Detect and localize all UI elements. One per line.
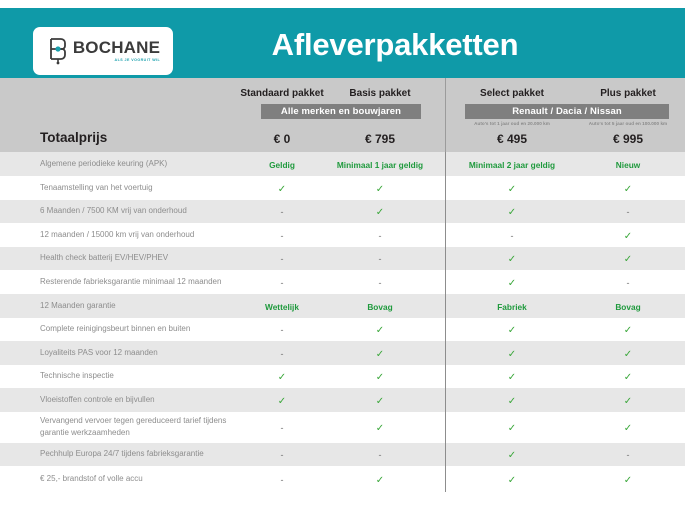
feature-label: Tenaamstelling van het voertuig: [40, 182, 255, 194]
column-group-divider: [445, 318, 446, 342]
table-row: Health check batterij EV/HEV/PHEV--✓✓: [0, 247, 685, 271]
cell-value: ✓: [376, 418, 384, 436]
feature-label: Pechhulp Europa 24/7 tijdens fabrieksgar…: [40, 448, 255, 460]
dash-icon: -: [627, 450, 630, 460]
cell-value: Wettelijk: [265, 297, 299, 315]
cell-value: ✓: [624, 226, 632, 244]
dash-icon: -: [379, 278, 382, 288]
cell-value: ✓: [508, 418, 516, 436]
cell-value: ✓: [624, 344, 632, 362]
cell-value: ✓: [624, 418, 632, 436]
column-group-divider: [445, 341, 446, 365]
cell-value: ✓: [376, 179, 384, 197]
cell-text: Bovag: [367, 302, 392, 312]
column-group-divider: [445, 294, 446, 318]
page-header-banner: BOCHANE ALS JE VOORUIT WIL Afleverpakket…: [0, 8, 685, 78]
column-group-divider: [445, 270, 446, 294]
check-icon: ✓: [624, 475, 632, 486]
cell-value: ✓: [508, 367, 516, 385]
check-icon: ✓: [376, 372, 384, 383]
check-icon: ✓: [376, 207, 384, 218]
price-plus: € 995: [598, 132, 658, 146]
table-row: Resterende fabrieksgarantie minimaal 12 …: [0, 270, 685, 294]
cell-value: ✓: [376, 391, 384, 409]
check-icon: ✓: [508, 475, 516, 486]
check-icon: ✓: [508, 450, 516, 461]
cell-value: -: [281, 249, 284, 267]
cell-value: -: [627, 202, 630, 220]
table-row: Algemene periodieke keuring (APK)GeldigM…: [0, 152, 685, 176]
cell-value: Geldig: [269, 155, 295, 173]
cell-text: Fabriek: [497, 302, 527, 312]
table-row: 12 maanden / 15000 km vrij van onderhoud…: [0, 223, 685, 247]
cell-value: ✓: [508, 202, 516, 220]
afleverpakketten-comparison-page: BOCHANE ALS JE VOORUIT WIL Afleverpakket…: [0, 0, 685, 514]
check-icon: ✓: [278, 184, 286, 195]
cell-value: -: [281, 320, 284, 338]
cell-text: Bovag: [615, 302, 640, 312]
table-row: Tenaamstelling van het voertuig✓✓✓✓: [0, 176, 685, 200]
check-icon: ✓: [508, 278, 516, 289]
column-group-divider: [445, 412, 446, 443]
cell-value: ✓: [376, 320, 384, 338]
cell-value: ✓: [508, 320, 516, 338]
cell-value: -: [627, 445, 630, 463]
feature-label: Health check batterij EV/HEV/PHEV: [40, 252, 255, 264]
table-row: 6 Maanden / 7500 KM vrij van onderhoud-✓…: [0, 200, 685, 224]
cell-value: ✓: [376, 367, 384, 385]
check-icon: ✓: [376, 325, 384, 336]
cell-value: ✓: [508, 344, 516, 362]
cell-value: ✓: [624, 470, 632, 488]
column-group-divider: [445, 466, 446, 492]
check-icon: ✓: [508, 372, 516, 383]
cell-value: ✓: [278, 391, 286, 409]
column-group-divider-top: [445, 78, 446, 152]
cell-value: ✓: [508, 445, 516, 463]
cell-value: -: [281, 344, 284, 362]
feature-label: 6 Maanden / 7500 KM vrij van onderhoud: [40, 205, 255, 217]
cell-text: Wettelijk: [265, 302, 299, 312]
table-row: Technische inspectie✓✓✓✓: [0, 365, 685, 389]
cell-value: ✓: [508, 470, 516, 488]
package-name-select: Select pakket: [457, 88, 567, 99]
check-icon: ✓: [508, 396, 516, 407]
check-icon: ✓: [376, 475, 384, 486]
cell-value: ✓: [624, 320, 632, 338]
cell-value: -: [511, 226, 514, 244]
dash-icon: -: [511, 231, 514, 241]
cell-value: ✓: [376, 202, 384, 220]
check-icon: ✓: [624, 184, 632, 195]
table-row: € 25,- brandstof of volle accu-✓✓✓: [0, 466, 685, 492]
cell-value: ✓: [508, 179, 516, 197]
package-note-plus: Auto's tot 5 jaar oud en 100.000 km: [572, 121, 684, 126]
package-note-select: Auto's tot 1 jaar oud en 20.000 km: [457, 121, 567, 126]
cell-value: Bovag: [615, 297, 640, 315]
check-icon: ✓: [624, 325, 632, 336]
cell-text: Nieuw: [616, 160, 640, 170]
cell-value: ✓: [624, 367, 632, 385]
page-title: Afleverpakketten: [0, 27, 685, 63]
cell-value: ✓: [508, 273, 516, 291]
table-row: Loyaliteits PAS voor 12 maanden-✓✓✓: [0, 341, 685, 365]
column-group-divider: [445, 443, 446, 467]
table-row: Pechhulp Europa 24/7 tijdens fabrieksgar…: [0, 443, 685, 467]
cell-value: -: [281, 202, 284, 220]
cell-value: Nieuw: [616, 155, 640, 173]
cell-value: ✓: [376, 470, 384, 488]
cell-value: Fabriek: [497, 297, 527, 315]
check-icon: ✓: [278, 372, 286, 383]
check-icon: ✓: [508, 423, 516, 434]
price-standaard: € 0: [252, 132, 312, 146]
column-group-divider: [445, 223, 446, 247]
cell-text: Geldig: [269, 160, 295, 170]
check-icon: ✓: [508, 349, 516, 360]
cell-value: Minimaal 1 jaar geldig: [337, 155, 423, 173]
cell-text: Minimaal 2 jaar geldig: [469, 160, 555, 170]
table-row: Vloeistoffen controle en bijvullen✓✓✓✓: [0, 388, 685, 412]
cell-value: ✓: [278, 179, 286, 197]
feature-label: Complete reinigingsbeurt binnen en buite…: [40, 323, 255, 335]
check-icon: ✓: [508, 254, 516, 265]
cell-value: -: [379, 249, 382, 267]
cell-value: Minimaal 2 jaar geldig: [469, 155, 555, 173]
check-icon: ✓: [376, 423, 384, 434]
column-group-divider: [445, 176, 446, 200]
group-bar-renault-dacia-nissan: Renault / Dacia / Nissan: [465, 104, 669, 119]
cell-value: -: [281, 470, 284, 488]
cell-value: ✓: [278, 367, 286, 385]
package-name-plus: Plus pakket: [578, 88, 678, 99]
check-icon: ✓: [376, 396, 384, 407]
cell-value: -: [281, 445, 284, 463]
column-group-divider: [445, 388, 446, 412]
dash-icon: -: [281, 207, 284, 217]
check-icon: ✓: [624, 349, 632, 360]
feature-label: € 25,- brandstof of volle accu: [40, 473, 255, 485]
dash-icon: -: [379, 231, 382, 241]
check-icon: ✓: [376, 184, 384, 195]
table-row: Vervangend vervoer tegen gereduceerd tar…: [0, 412, 685, 443]
totaalprijs-label: Totaalprijs: [40, 130, 107, 145]
column-group-divider: [445, 152, 446, 176]
dash-icon: -: [379, 254, 382, 264]
check-icon: ✓: [624, 372, 632, 383]
feature-label: 12 Maanden garantie: [40, 300, 255, 312]
price-basis: € 795: [350, 132, 410, 146]
cell-value: -: [627, 273, 630, 291]
dash-icon: -: [281, 254, 284, 264]
cell-value: -: [379, 226, 382, 244]
check-icon: ✓: [376, 349, 384, 360]
feature-label: Resterende fabrieksgarantie minimaal 12 …: [40, 276, 255, 288]
check-icon: ✓: [508, 184, 516, 195]
column-group-divider: [445, 365, 446, 389]
dash-icon: -: [281, 278, 284, 288]
cell-value: ✓: [376, 344, 384, 362]
check-icon: ✓: [278, 396, 286, 407]
cell-value: -: [281, 418, 284, 436]
package-name-standaard: Standaard pakket: [222, 88, 342, 99]
check-icon: ✓: [508, 325, 516, 336]
dash-icon: -: [281, 423, 284, 433]
cell-text: Minimaal 1 jaar geldig: [337, 160, 423, 170]
dash-icon: -: [281, 450, 284, 460]
check-icon: ✓: [624, 231, 632, 242]
group-bar-all-brands: Alle merken en bouwjaren: [261, 104, 421, 119]
dash-icon: -: [281, 325, 284, 335]
package-header-band: Standaard pakket Basis pakket Select pak…: [0, 78, 685, 152]
check-icon: ✓: [624, 423, 632, 434]
check-icon: ✓: [624, 396, 632, 407]
cell-value: ✓: [508, 391, 516, 409]
table-row: Complete reinigingsbeurt binnen en buite…: [0, 318, 685, 342]
dash-icon: -: [281, 231, 284, 241]
dash-icon: -: [627, 278, 630, 288]
cell-value: -: [281, 226, 284, 244]
dash-icon: -: [379, 450, 382, 460]
price-select: € 495: [482, 132, 542, 146]
cell-value: ✓: [624, 249, 632, 267]
cell-value: -: [379, 445, 382, 463]
dash-icon: -: [281, 475, 284, 485]
feature-label: 12 maanden / 15000 km vrij van onderhoud: [40, 229, 255, 241]
feature-label: Vloeistoffen controle en bijvullen: [40, 394, 255, 406]
dash-icon: -: [281, 349, 284, 359]
cell-value: Bovag: [367, 297, 392, 315]
check-icon: ✓: [508, 207, 516, 218]
cell-value: ✓: [508, 249, 516, 267]
cell-value: -: [281, 273, 284, 291]
feature-label: Algemene periodieke keuring (APK): [40, 158, 255, 170]
cell-value: -: [379, 273, 382, 291]
feature-label: Loyaliteits PAS voor 12 maanden: [40, 347, 255, 359]
comparison-table: Algemene periodieke keuring (APK)GeldigM…: [0, 152, 685, 492]
table-row: 12 Maanden garantieWettelijkBovagFabriek…: [0, 294, 685, 318]
cell-value: ✓: [624, 179, 632, 197]
column-group-divider: [445, 247, 446, 271]
column-group-divider: [445, 200, 446, 224]
feature-label: Vervangend vervoer tegen gereduceerd tar…: [40, 415, 255, 439]
dash-icon: -: [627, 207, 630, 217]
check-icon: ✓: [624, 254, 632, 265]
cell-value: ✓: [624, 391, 632, 409]
feature-label: Technische inspectie: [40, 370, 255, 382]
package-name-basis: Basis pakket: [330, 88, 430, 99]
